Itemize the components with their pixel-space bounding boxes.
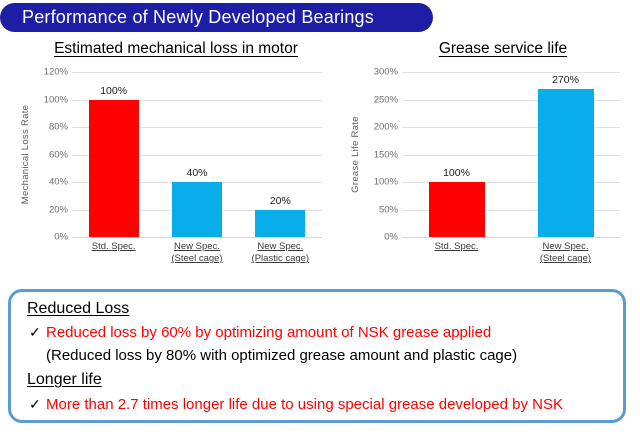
summary-callout-box: Reduced Loss ✓ Reduced loss by 60% by op…	[8, 289, 626, 423]
y-axis-tick-label: 50%	[379, 204, 398, 215]
y-axis-tick-label: 100%	[44, 94, 68, 105]
bar-2	[172, 182, 222, 237]
x-axis-category-label: Std. Spec.	[72, 241, 156, 253]
bar-value-label: 20%	[250, 195, 310, 207]
y-axis-title: Mechanical Loss Rate	[20, 72, 31, 237]
bar-value-label: 40%	[167, 167, 227, 179]
y-axis-tick-label: 60%	[49, 149, 68, 160]
x-axis-category-label: New Spec.(Steel cage)	[524, 241, 608, 265]
gridline	[72, 237, 322, 238]
y-axis-tick-label: 300%	[374, 67, 398, 78]
y-axis-tick-label: 100%	[374, 177, 398, 188]
check-icon: ✓	[29, 396, 46, 413]
callout-subnote-text: (Reduced loss by 80% with optimized grea…	[46, 347, 517, 364]
bar-value-label: 100%	[84, 85, 144, 97]
callout-bullet-text: More than 2.7 times longer life due to u…	[46, 396, 563, 413]
y-axis-tick-label: 40%	[49, 177, 68, 188]
title-banner: Performance of Newly Developed Bearings	[0, 3, 433, 32]
y-axis-tick-label: 20%	[49, 204, 68, 215]
page-title: Performance of Newly Developed Bearings	[0, 7, 374, 28]
y-axis-tick-label: 150%	[374, 149, 398, 160]
bar-3	[255, 210, 305, 238]
bar-1	[89, 100, 139, 238]
bar-value-label: 100%	[427, 167, 487, 179]
callout-heading-longer-life: Longer life	[27, 371, 102, 389]
chart-mechanical-loss: Estimated mechanical loss in motor Mecha…	[14, 38, 334, 283]
y-axis-tick-label: 80%	[49, 122, 68, 133]
bar-2	[538, 89, 594, 238]
check-icon: ✓	[29, 324, 46, 341]
callout-bullet-longer-life: ✓ More than 2.7 times longer life due to…	[29, 396, 563, 413]
callout-heading-reduced-loss: Reduced Loss	[27, 300, 129, 318]
x-axis-category-label: New Spec.(Plastic cage)	[238, 241, 322, 265]
x-axis-category-label: New Spec.(Steel cage)	[155, 241, 239, 265]
y-axis-title: Grease Life Rate	[350, 72, 361, 237]
bar-1	[429, 182, 485, 237]
chart-grease-life: Grease service life Grease Life Rate0%50…	[340, 38, 636, 283]
y-axis-tick-label: 200%	[374, 122, 398, 133]
chart-title-grease-life: Grease service life	[340, 38, 636, 58]
y-axis-tick-label: 120%	[44, 67, 68, 78]
x-axis-category-label: Std. Spec.	[415, 241, 499, 253]
bar-value-label: 270%	[536, 74, 596, 86]
callout-bullet-reduced-loss-60: ✓ Reduced loss by 60% by optimizing amou…	[29, 324, 491, 341]
y-axis-tick-label: 0%	[384, 232, 398, 243]
gridline	[402, 237, 620, 238]
callout-subnote-reduced-loss-80: (Reduced loss by 80% with optimized grea…	[29, 347, 517, 364]
gridline	[72, 72, 322, 73]
charts-row: Estimated mechanical loss in motor Mecha…	[0, 38, 640, 283]
callout-bullet-text: Reduced loss by 60% by optimizing amount…	[46, 324, 491, 341]
chart-title-mechanical-loss: Estimated mechanical loss in motor	[14, 38, 334, 58]
y-axis-tick-label: 250%	[374, 94, 398, 105]
y-axis-tick-label: 0%	[54, 232, 68, 243]
